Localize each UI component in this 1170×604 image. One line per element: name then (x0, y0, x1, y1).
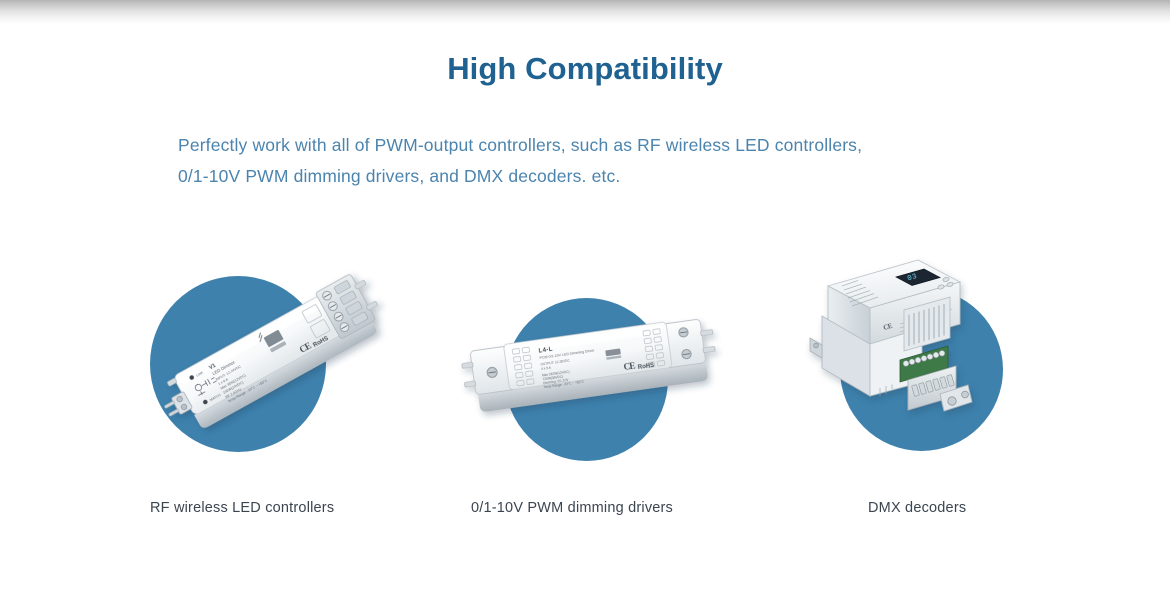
product-card-dmx-decoder: 03 (800, 246, 1130, 536)
dimming-driver-svg: L4-L PCM 0/1-10V LED Dimming Driver OUTP… (455, 246, 785, 481)
product-caption: DMX decoders (868, 500, 966, 516)
intro-line-1: Perfectly work with all of PWM-output co… (178, 130, 1038, 161)
rf-controller-svg: V1 LED Dimmer INPUT: 12-24VDC 1 x 8 A Ma… (128, 246, 458, 481)
dmx-body: 03 (810, 260, 972, 411)
product-image-dmx-decoder: 03 (800, 246, 1130, 481)
page-title: High Compatibility (0, 51, 1170, 87)
mounting-tab-left (462, 362, 474, 368)
promo-page: High Compatibility Perfectly work with a… (0, 0, 1170, 604)
device-illustration-dimming-driver: L4-L PCM 0/1-10V LED Dimming Driver OUTP… (455, 246, 785, 481)
mounting-tab-left-2 (464, 381, 476, 387)
top-gradient-band (0, 0, 1170, 26)
product-card-rf-controller: V1 LED Dimmer INPUT: 12-24VDC 1 x 8 A Ma… (128, 246, 458, 536)
mounting-tab-right (354, 280, 366, 290)
mounting-tab-right (700, 329, 713, 336)
device-illustration-dmx-decoder: 03 (800, 246, 1130, 481)
product-card-dimming-driver: L4-L PCM 0/1-10V LED Dimming Driver OUTP… (455, 246, 785, 536)
dmx-decoder-svg: 03 (800, 246, 1130, 481)
intro-line-2: 0/1-10V PWM dimming drivers, and DMX dec… (178, 161, 1038, 192)
product-caption: RF wireless LED controllers (150, 500, 334, 516)
mounting-tab-right-2 (366, 301, 378, 311)
din-rail-clip (810, 338, 822, 358)
svg-text:CE: CE (623, 360, 636, 372)
product-caption: 0/1-10V PWM dimming drivers (471, 500, 673, 516)
mounting-tab-left (167, 378, 177, 387)
mounting-tab-right-2 (703, 346, 716, 353)
product-image-dimming-driver: L4-L PCM 0/1-10V LED Dimming Driver OUTP… (455, 246, 785, 481)
device-illustration-rf-controller: V1 LED Dimmer INPUT: 12-24VDC 1 x 8 A Ma… (128, 246, 458, 481)
intro-paragraph: Perfectly work with all of PWM-output co… (178, 130, 1038, 192)
product-image-rf-controller: V1 LED Dimmer INPUT: 12-24VDC 1 x 8 A Ma… (128, 246, 458, 481)
product-card-row: V1 LED Dimmer INPUT: 12-24VDC 1 x 8 A Ma… (0, 246, 1170, 536)
